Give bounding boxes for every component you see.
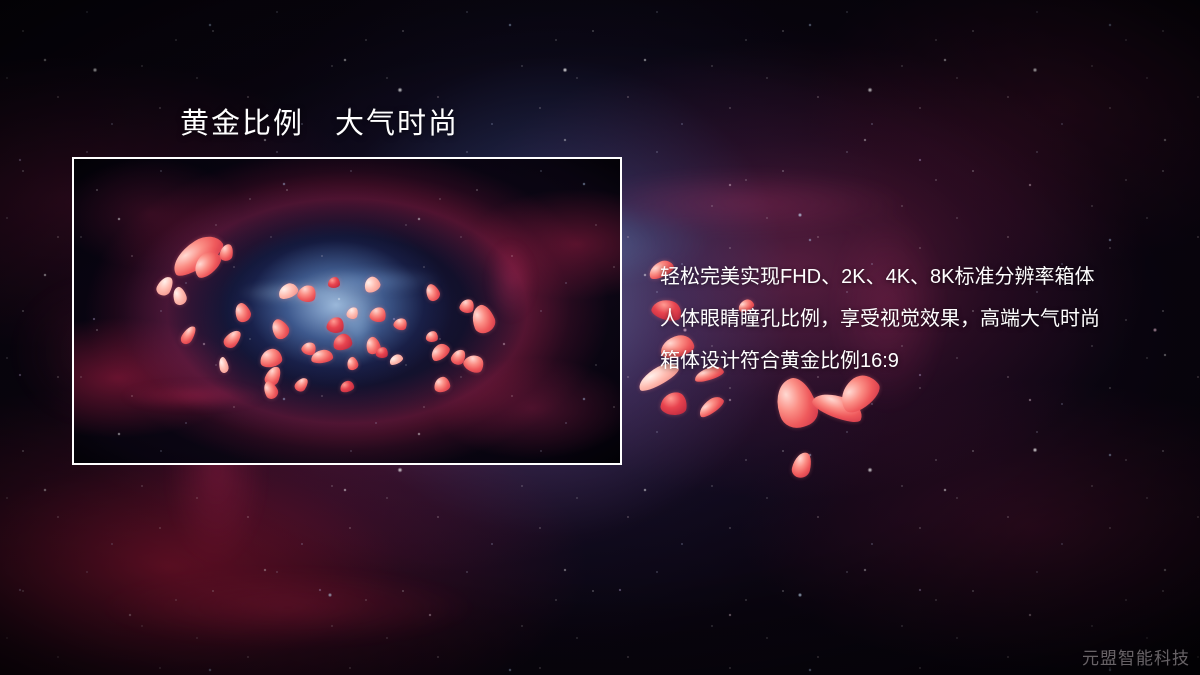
petal-icon	[660, 390, 689, 416]
petal-icon	[770, 373, 822, 432]
body-line: 人体眼睛瞳孔比例，享受视觉效果，高端大气时尚	[660, 298, 1160, 340]
petal-icon	[790, 450, 814, 480]
watermark: 元盟智能科技	[1082, 644, 1190, 669]
body-line: 箱体设计符合黄金比例16:9	[660, 340, 1160, 382]
petal-icon	[810, 387, 866, 427]
presentation-slide: 黄金比例 大气时尚	[0, 0, 1200, 675]
hero-image-frame	[72, 157, 622, 465]
body-copy: 轻松完美实现FHD、2K、4K、8K标准分辨率箱体 人体眼睛瞳孔比例，享受视觉效…	[660, 256, 1160, 382]
slide-title: 黄金比例 大气时尚	[180, 100, 459, 142]
body-line: 轻松完美实现FHD、2K、4K、8K标准分辨率箱体	[660, 256, 1160, 298]
petal-icon	[696, 393, 726, 419]
petal-icon	[426, 331, 439, 343]
petal-icon	[328, 277, 340, 288]
